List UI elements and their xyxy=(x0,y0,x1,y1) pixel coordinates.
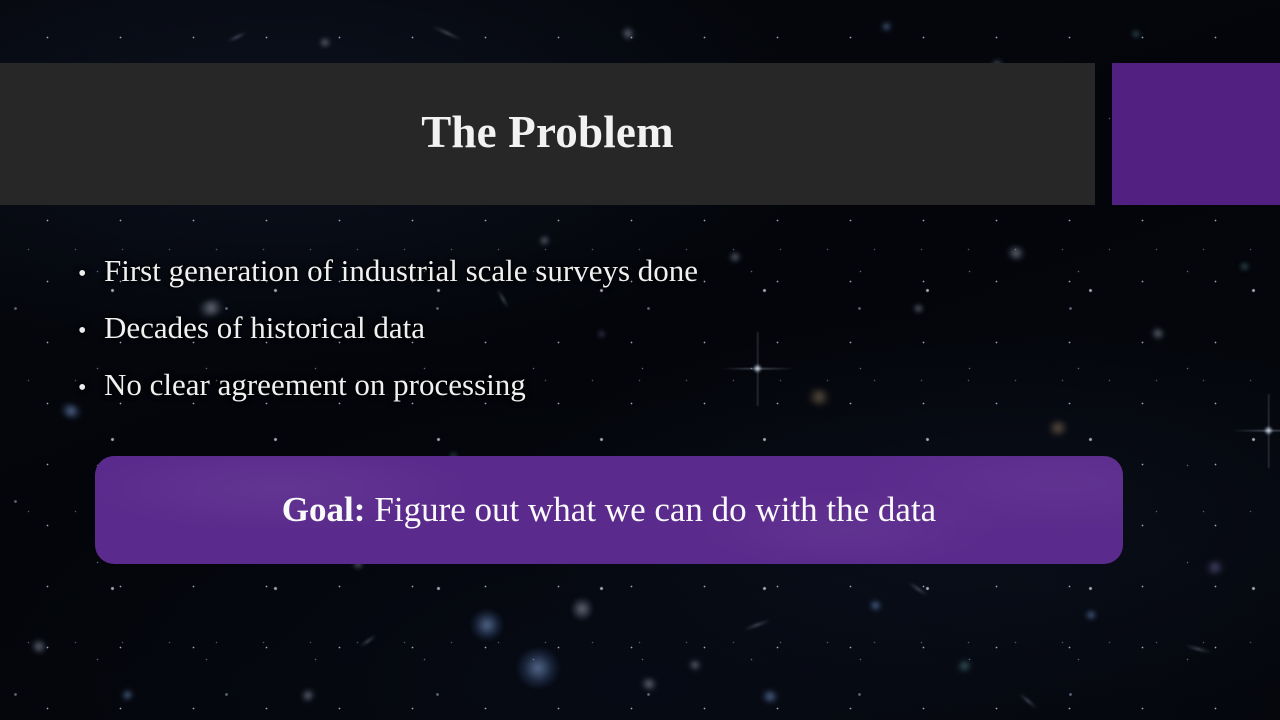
list-item-label: Decades of historical data xyxy=(104,301,425,354)
bullet-list: • First generation of industrial scale s… xyxy=(78,244,1058,415)
goal-callout-box: Goal:Figure out what we can do with the … xyxy=(95,456,1123,564)
slide-title: The Problem xyxy=(421,110,674,155)
list-item-label: First generation of industrial scale sur… xyxy=(104,244,698,297)
presentation-slide: The Problem • First generation of indust… xyxy=(0,0,1280,720)
list-item-label: No clear agreement on processing xyxy=(104,358,526,411)
goal-callout-text: Goal:Figure out what we can do with the … xyxy=(282,492,936,527)
header-accent-block xyxy=(1112,63,1280,205)
list-item: • First generation of industrial scale s… xyxy=(78,244,1058,301)
list-item: • Decades of historical data xyxy=(78,301,1058,358)
bullet-point-icon: • xyxy=(78,305,104,358)
goal-label: Goal: xyxy=(282,490,366,529)
bullet-point-icon: • xyxy=(78,248,104,301)
slide-title-bar: The Problem xyxy=(0,63,1095,205)
goal-statement: Figure out what we can do with the data xyxy=(374,490,936,529)
list-item: • No clear agreement on processing xyxy=(78,358,1058,415)
bullet-point-icon: • xyxy=(78,362,104,415)
